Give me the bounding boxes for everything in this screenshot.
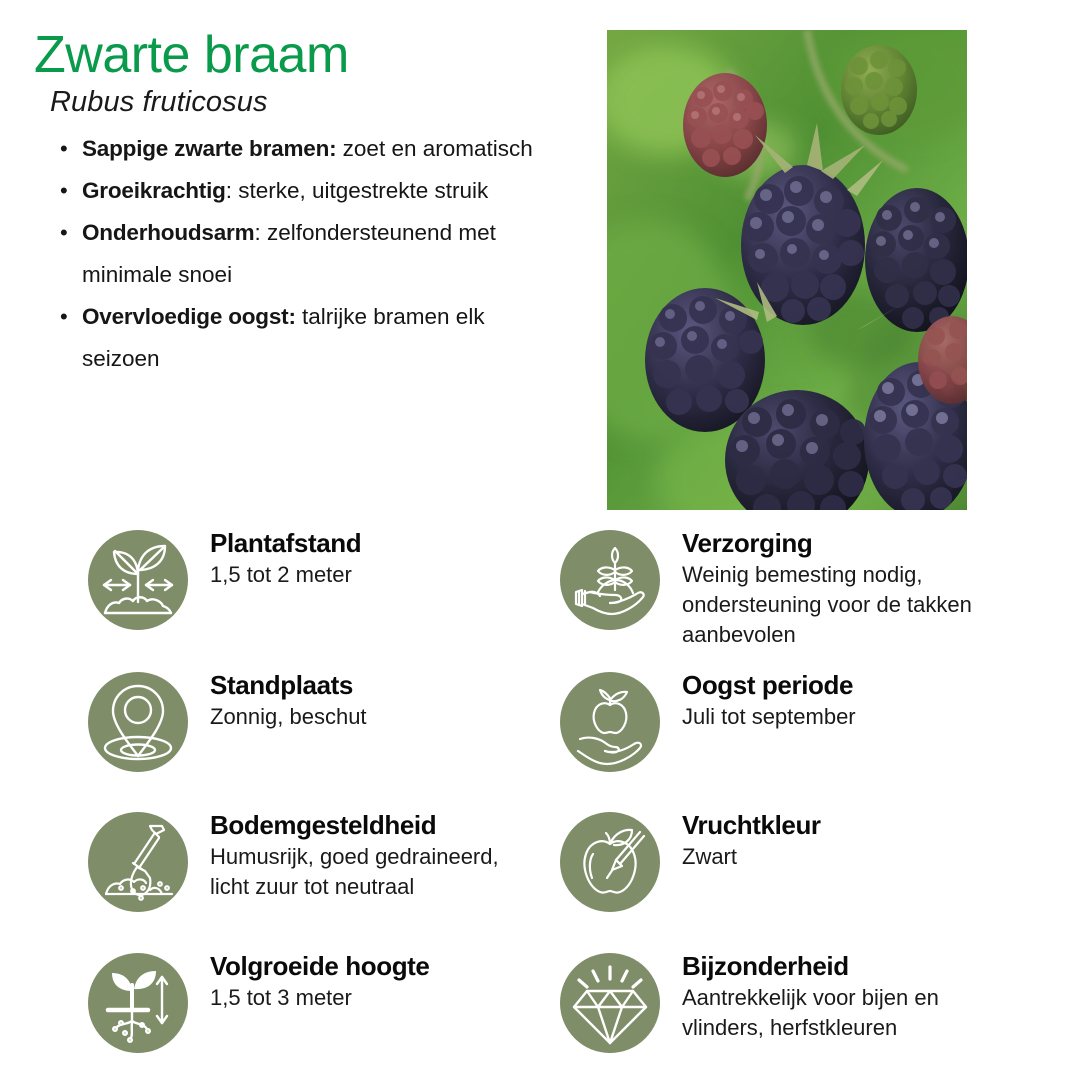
list-item-strong: Groeikrachtig <box>82 178 226 203</box>
page-subtitle: Rubus fruticosus <box>50 86 268 119</box>
bullet-dot-icon: • <box>60 128 68 170</box>
info-title: Standplaats <box>210 668 540 702</box>
feature-bullet-list: • Sappige zwarte bramen: zoet en aromati… <box>42 128 552 380</box>
list-item: • Onderhoudsarm: zelfondersteunend met m… <box>42 212 552 296</box>
list-item: • Overvloedige oogst: talrijke bramen el… <box>42 296 552 380</box>
shovel-soil-icon <box>88 812 188 912</box>
list-item: • Groeikrachtig: sterke, uitgestrekte st… <box>42 170 552 212</box>
info-desc: Juli tot september <box>682 702 1012 732</box>
plant-info-card: Zwarte braam Rubus fruticosus • Sappige … <box>0 0 1080 1080</box>
list-item-strong: Onderhoudsarm <box>82 220 254 245</box>
info-desc: Aantrekkelijk voor bijen en vlinders, he… <box>682 983 1012 1043</box>
info-title: Oogst periode <box>682 668 1012 702</box>
info-text-block: Bodemgesteldheid Humusrijk, goed gedrain… <box>210 808 540 902</box>
apple-brush-icon <box>560 812 660 912</box>
list-item: • Sappige zwarte bramen: zoet en aromati… <box>42 128 552 170</box>
info-title: Volgroeide hoogte <box>210 949 540 983</box>
list-item-rest: : sterke, uitgestrekte struik <box>226 178 489 203</box>
hand-sprout-icon <box>560 530 660 630</box>
bullet-dot-icon: • <box>60 170 68 212</box>
location-pin-icon <box>88 672 188 772</box>
info-title: Bodemgesteldheid <box>210 808 540 842</box>
page-title: Zwarte braam <box>34 28 349 83</box>
bullet-dot-icon: • <box>60 212 68 254</box>
info-desc: Humusrijk, goed gedraineerd, licht zuur … <box>210 842 540 902</box>
info-text-block: Standplaats Zonnig, beschut <box>210 668 540 732</box>
info-title: Vruchtkleur <box>682 808 1012 842</box>
info-desc: Zonnig, beschut <box>210 702 540 732</box>
bullet-dot-icon: • <box>60 296 68 338</box>
info-text-block: Plantafstand 1,5 tot 2 meter <box>210 526 540 590</box>
list-item-strong: Overvloedige oogst: <box>82 304 296 329</box>
info-text-block: Volgroeide hoogte 1,5 tot 3 meter <box>210 949 540 1013</box>
info-title: Bijzonderheid <box>682 949 1012 983</box>
info-text-block: Bijzonderheid Aantrekkelijk voor bijen e… <box>682 949 1012 1043</box>
plant-height-icon <box>88 953 188 1053</box>
info-desc: Zwart <box>682 842 1012 872</box>
diamond-icon <box>560 953 660 1053</box>
list-item-strong: Sappige zwarte bramen: <box>82 136 336 161</box>
info-desc: Weinig bemesting nodig, ondersteuning vo… <box>682 560 1012 650</box>
hand-apple-icon <box>560 672 660 772</box>
info-desc: 1,5 tot 3 meter <box>210 983 540 1013</box>
info-text-block: Oogst periode Juli tot september <box>682 668 1012 732</box>
plant-spacing-icon <box>88 530 188 630</box>
info-title: Plantafstand <box>210 526 540 560</box>
info-desc: 1,5 tot 2 meter <box>210 560 540 590</box>
list-item-rest: zoet en aromatisch <box>336 136 532 161</box>
info-title: Verzorging <box>682 526 1012 560</box>
info-text-block: Verzorging Weinig bemesting nodig, onder… <box>682 526 1012 650</box>
info-text-block: Vruchtkleur Zwart <box>682 808 1012 872</box>
blackberry-photo <box>607 30 967 510</box>
